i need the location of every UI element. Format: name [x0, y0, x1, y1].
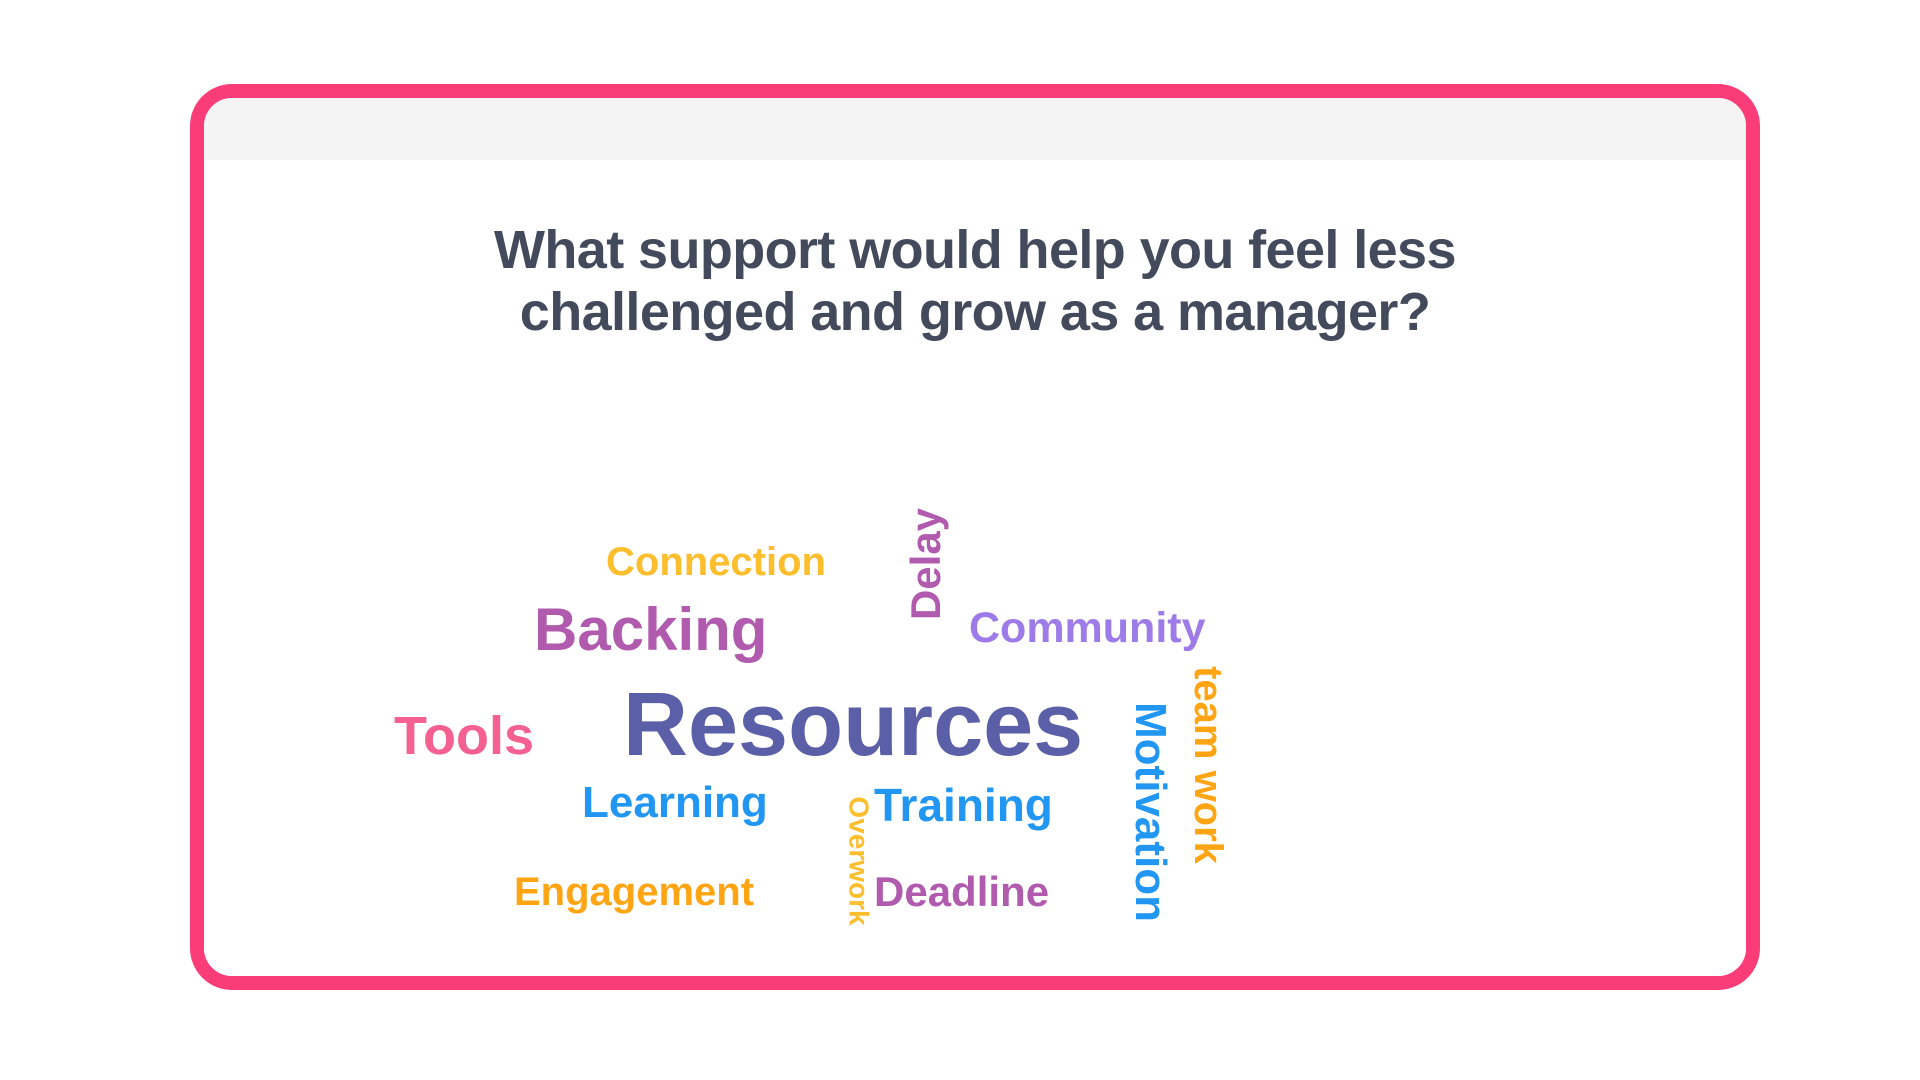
cloud-word-motivation[interactable]: Motivation [1128, 702, 1172, 922]
cloud-word-delay[interactable]: Delay [905, 508, 947, 620]
cloud-word-overwork[interactable]: Overwork [845, 796, 873, 925]
page-title: What support would help you feel less ch… [204, 220, 1746, 343]
cloud-word-training[interactable]: Training [874, 782, 1053, 828]
cloud-word-tools[interactable]: Tools [394, 709, 534, 763]
cloud-word-deadline[interactable]: Deadline [874, 871, 1049, 913]
card-body: What support would help you feel less ch… [204, 160, 1746, 976]
page-title-line-2: challenged and grow as a manager? [324, 282, 1626, 344]
cloud-word-connection[interactable]: Connection [606, 542, 826, 582]
cloud-word-backing[interactable]: Backing [534, 600, 767, 660]
cloud-word-resources[interactable]: Resources [623, 680, 1083, 770]
cloud-word-community[interactable]: Community [969, 607, 1206, 650]
card-header-strip [204, 98, 1746, 160]
word-cloud: ConnectionDelayCommunityBackingToolsReso… [204, 490, 1746, 960]
cloud-word-engagement[interactable]: Engagement [514, 872, 754, 912]
page-title-line-1: What support would help you feel less [324, 220, 1626, 282]
cloud-word-team-work[interactable]: team work [1188, 666, 1228, 864]
cloud-word-learning[interactable]: Learning [582, 781, 768, 825]
slide-card: What support would help you feel less ch… [190, 84, 1760, 990]
